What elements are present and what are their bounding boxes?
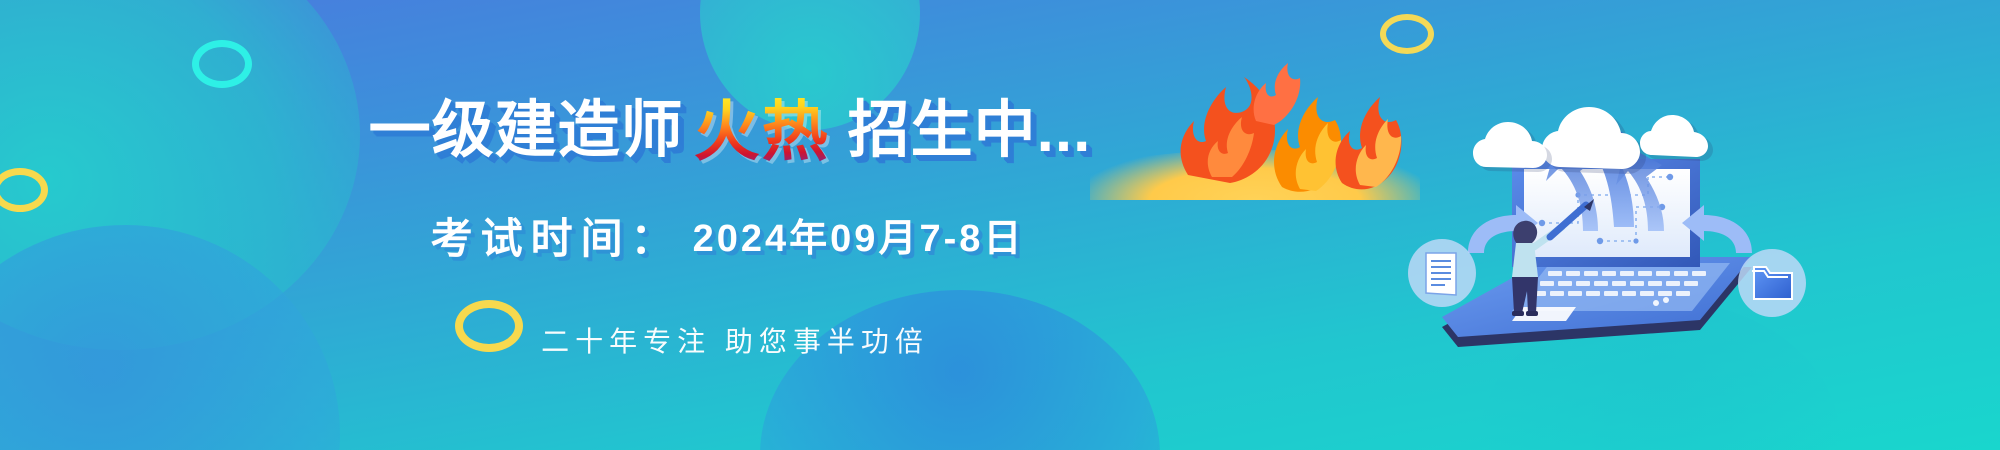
folder-icon: [1738, 249, 1806, 317]
laptop-icon: [1442, 159, 1752, 347]
exam-date-line: 考试时间：2024年09月7-8日: [0, 218, 1455, 260]
headline: 一级建造师火热招生中...: [0, 98, 1460, 164]
headline-enroll-text: 招生中...: [848, 100, 1092, 162]
background-blob-top-left: [0, 0, 360, 350]
document-icon: [1408, 239, 1476, 307]
ring-cyan-top-left-icon: [192, 40, 252, 88]
cloud-upload-laptop-illustration: [1400, 55, 1820, 375]
ring-yellow-left-icon: [0, 168, 48, 212]
headline-hot-text: 火热: [694, 98, 830, 164]
promo-banner: 一级建造师火热招生中... 考试时间：2024年09月7-8日 二十年专注 助您…: [0, 0, 2000, 450]
exam-time-label: 考试时间：: [431, 218, 681, 260]
headline-main-text: 一级建造师: [369, 100, 684, 162]
tagline: 二十年专注 助您事半功倍: [0, 320, 1470, 360]
exam-date-value: 2024年09月7-8日: [693, 220, 1025, 258]
background-blob-bottom-center: [760, 290, 1160, 450]
